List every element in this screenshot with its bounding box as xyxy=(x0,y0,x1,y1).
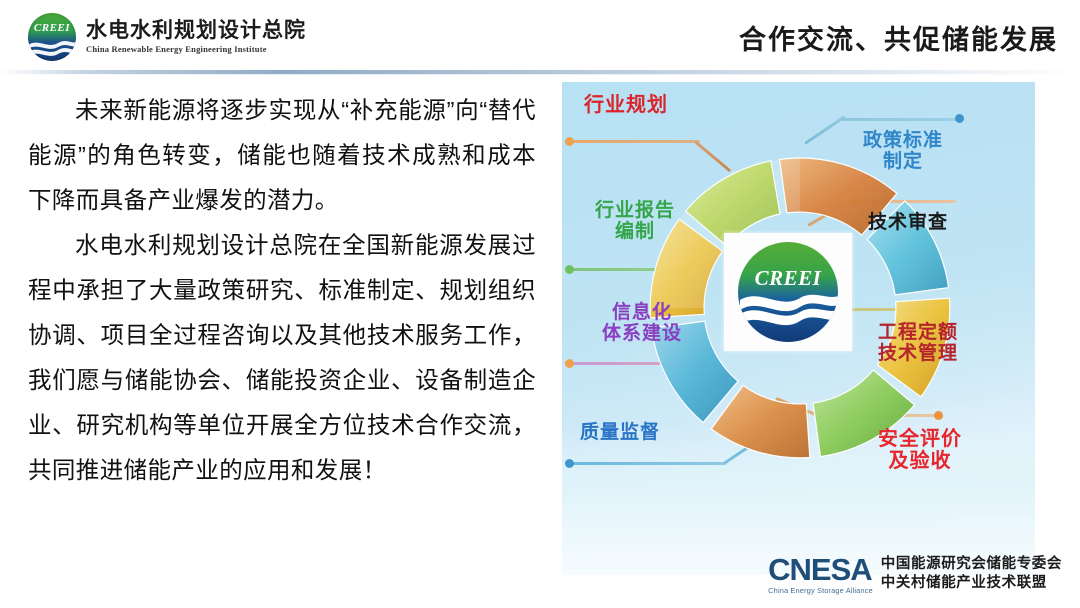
cnesa-wordmark: CNESA China Energy Storage Alliance xyxy=(768,554,873,595)
diagram-figure: CREEI 行业规划 行业报告 编制 信息化 体系建设 质量监督 政策标准 制定… xyxy=(562,82,1035,575)
label-informatization: 信息化 体系建设 xyxy=(580,302,704,345)
cnesa-logo: CNESA China Energy Storage Alliance 中国能源… xyxy=(768,554,1062,595)
label-industry-planning: 行业规划 xyxy=(584,94,668,116)
cnesa-cn-line2: 中关村储能产业技术联盟 xyxy=(881,574,1062,593)
cnesa-chinese-name: 中国能源研究会储能专委会 中关村储能产业技术联盟 xyxy=(881,555,1062,592)
label-technical-review: 技术审查 xyxy=(868,212,948,233)
slide-header: CREEI 水电水利规划设计总院 China Renewable Energy … xyxy=(0,0,1080,70)
creei-badge-icon: CREEI xyxy=(738,242,838,342)
label-quality-supervision: 质量监督 xyxy=(580,422,660,443)
cnesa-cn-line1: 中国能源研究会储能专委会 xyxy=(881,555,1062,574)
label-engineering-quota: 工程定额 技术管理 xyxy=(862,322,974,365)
cnesa-english-name: China Energy Storage Alliance xyxy=(768,587,873,595)
page-title: 合作交流、共促储能发展 xyxy=(739,18,1058,57)
center-wave-icon xyxy=(738,284,838,336)
label-industry-report: 行业报告 编制 xyxy=(574,200,696,243)
label-safety-evaluation: 安全评价 及验收 xyxy=(866,428,974,473)
org-name-en: China Renewable Energy Engineering Insti… xyxy=(86,45,306,54)
label-policy-standard: 政策标准 制定 xyxy=(850,130,956,173)
paragraph-1: 未来新能源将逐步实现从“补充能源”向“替代能源”的角色转变，储能也随着技术成熟和… xyxy=(28,88,536,223)
wave-icon xyxy=(28,35,76,61)
cnesa-word: CNESA xyxy=(768,554,873,585)
slide: CREEI 水电水利规划设计总院 China Renewable Energy … xyxy=(0,0,1080,608)
brand-text: 水电水利规划设计总院 China Renewable Energy Engine… xyxy=(86,20,306,54)
paragraph-2: 水电水利规划设计总院在全国新能源发展过程中承担了大量政策研究、标准制定、规划组织… xyxy=(28,223,536,493)
header-divider-thin xyxy=(0,74,1080,75)
creei-logo-text: CREEI xyxy=(28,22,76,34)
creei-logo-icon: CREEI xyxy=(28,13,76,61)
brand-block: CREEI 水电水利规划设计总院 China Renewable Energy … xyxy=(28,13,306,61)
center-creei-logo: CREEI xyxy=(724,233,852,351)
body-text: 未来新能源将逐步实现从“补充能源”向“替代能源”的角色转变，储能也随着技术成熟和… xyxy=(28,88,536,493)
org-name-cn: 水电水利规划设计总院 xyxy=(86,20,306,41)
